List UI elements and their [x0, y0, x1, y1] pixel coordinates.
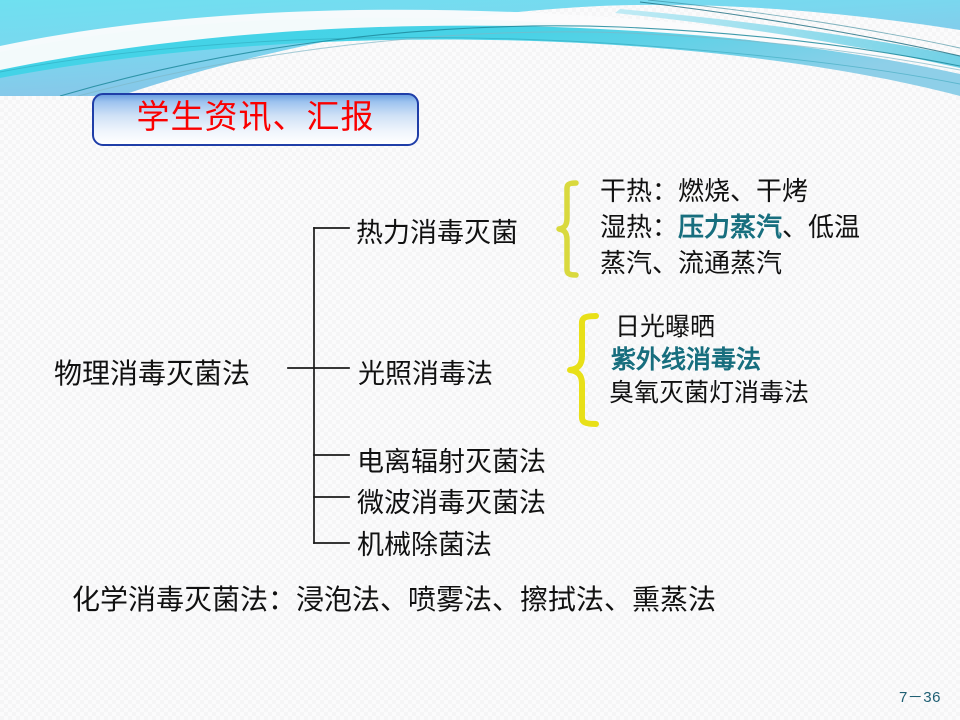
heat-detail-line-dry: 干热：燃烧、干烤: [600, 174, 950, 210]
slide-canvas: 学生资讯、汇报 物理消毒灭菌法 热力消毒灭菌 光照消毒法 电离辐射灭菌法 微波消…: [0, 0, 960, 720]
light-detail-group: 日光曝晒 紫外线消毒法 臭氧灭菌灯消毒法: [609, 311, 809, 410]
heat-moist-highlight: 压力蒸汽: [678, 213, 782, 242]
tree-branch-mechanical: 机械除菌法: [357, 523, 492, 562]
tree-branch-ionizing-radiation: 电离辐射灭菌法: [357, 440, 546, 479]
header-decoration: [0, 0, 960, 96]
heat-moist-suffix: 、低温: [782, 213, 860, 242]
tree-branch-microwave: 微波消毒灭菌法: [357, 481, 546, 520]
slide-title-box: 学生资讯、汇报: [92, 93, 419, 146]
light-detail-line-ozone: 臭氧灭菌灯消毒法: [609, 377, 809, 410]
page-number: 7－36: [899, 686, 941, 707]
brace-light: [570, 316, 596, 424]
light-detail-line-uv: 紫外线消毒法: [609, 344, 809, 377]
heat-detail-line-steam: 蒸汽、流通蒸汽: [600, 246, 950, 282]
tree-root-label: 物理消毒灭菌法: [54, 352, 250, 392]
slide-title-text: 学生资讯、汇报: [137, 102, 375, 135]
tree-branch-heat-sterilization: 热力消毒灭菌: [356, 211, 518, 250]
heat-detail-group: 干热：燃烧、干烤 湿热：压力蒸汽、低温 蒸汽、流通蒸汽: [600, 174, 950, 282]
heat-detail-line-moist: 湿热：压力蒸汽、低温: [600, 210, 950, 246]
heat-moist-prefix: 湿热：: [600, 213, 678, 242]
tree-branch-light-disinfection: 光照消毒法: [358, 352, 493, 391]
brace-heat: [559, 183, 576, 275]
light-detail-line-sunlight: 日光曝晒: [609, 311, 809, 344]
chemical-disinfection-line: 化学消毒灭菌法：浸泡法、喷雾法、擦拭法、熏蒸法: [72, 578, 716, 618]
